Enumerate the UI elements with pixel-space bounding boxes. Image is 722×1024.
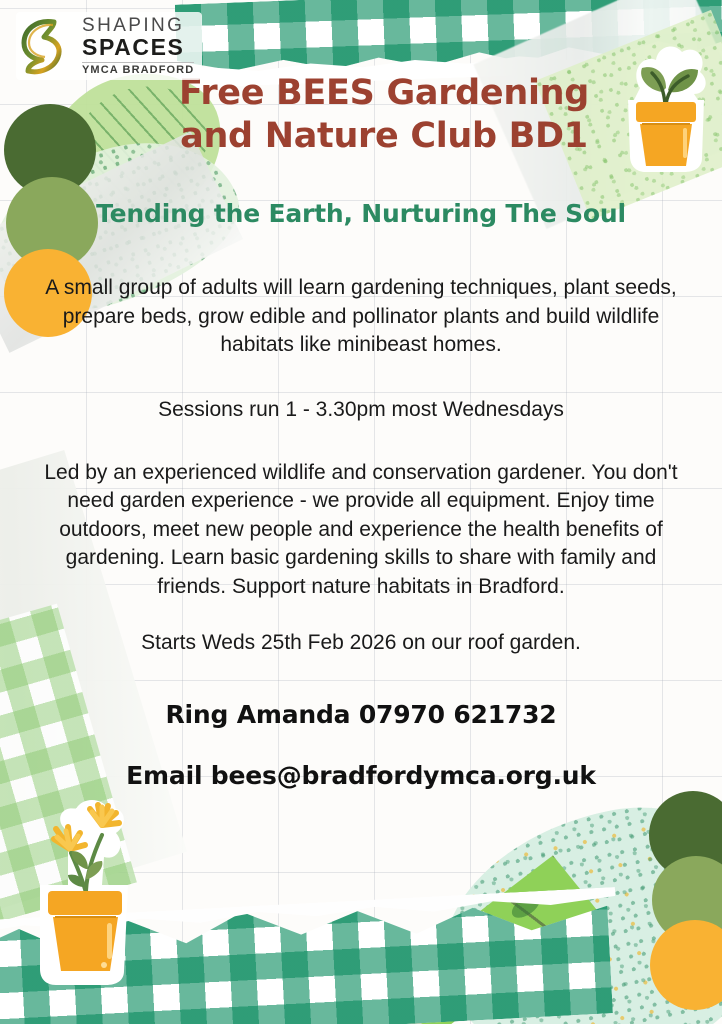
contact-email: Email bees@bradfordymca.org.uk: [0, 761, 722, 790]
shaping-spaces-s-monogram-icon: [20, 17, 72, 75]
contact-phone: Ring Amanda 07970 621732: [0, 700, 722, 729]
potted-flowers-sticker: [30, 795, 148, 985]
potted-flowers-icon: [30, 795, 148, 985]
paragraph-start-date: Starts Weds 25th Feb 2026 on our roof ga…: [0, 629, 722, 658]
logo-line-ymca-bradford: YMCA BRADFORD: [82, 62, 194, 76]
poster-subtitle: Tending the Earth, Nurturing The Soul: [0, 199, 722, 228]
title-line-2: and Nature Club BD1: [92, 115, 676, 158]
logo-line-spaces: SPACES: [82, 36, 194, 59]
shaping-spaces-logo: SHAPING SPACES YMCA BRADFORD: [16, 12, 202, 80]
title-line-1: Free BEES Gardening: [179, 73, 589, 113]
paragraph-details: Led by an experienced wildlife and conse…: [0, 459, 722, 602]
paragraph-intro: A small group of adults will learn garde…: [0, 274, 722, 360]
page-title: Free BEES Gardening and Nature Club BD1: [0, 72, 722, 157]
logo-line-shaping: SHAPING: [82, 16, 194, 35]
paragraph-sessions: Sessions run 1 - 3.30pm most Wednesdays: [0, 396, 722, 425]
poster-content: Free BEES Gardening and Nature Club BD1 …: [0, 0, 722, 790]
poster-canvas: SHAPING SPACES YMCA BRADFORD Free BEES G…: [0, 0, 722, 1024]
